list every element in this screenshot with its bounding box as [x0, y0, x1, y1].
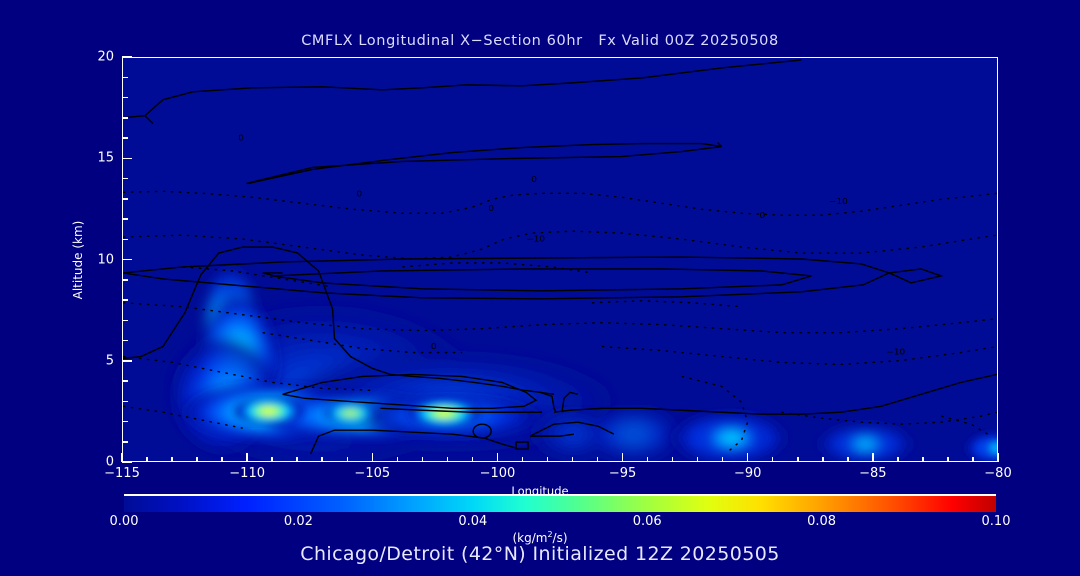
- x-tick: [672, 457, 674, 462]
- colorbar[interactable]: [124, 496, 996, 512]
- x-tick-label: −105: [354, 466, 390, 481]
- contour-label: −10: [526, 234, 545, 243]
- colorbar-tick-label: 0.06: [633, 514, 662, 529]
- x-tick: [422, 457, 424, 462]
- y-tick: [122, 239, 128, 241]
- x-tick: [947, 457, 949, 462]
- y-tick: [122, 158, 132, 160]
- y-tick: [122, 117, 128, 119]
- x-tick-label: −80: [984, 466, 1011, 481]
- y-tick-label: 20: [97, 50, 114, 65]
- y-tick: [122, 340, 128, 342]
- x-tick: [897, 457, 899, 462]
- x-tick-label: −85: [859, 466, 886, 481]
- x-tick: [397, 457, 399, 462]
- contour-label: 0: [488, 204, 494, 213]
- y-axis-title: Altitude (km): [71, 221, 85, 300]
- contour-label: −10: [886, 347, 905, 356]
- y-tick: [122, 56, 132, 58]
- colorbar-tick-label: 0.02: [284, 514, 313, 529]
- y-tick: [122, 320, 128, 322]
- colorbar-tick-label: 0.00: [110, 514, 139, 529]
- x-tick: [872, 453, 874, 462]
- x-tick: [822, 457, 824, 462]
- y-tick: [122, 421, 128, 423]
- contour-label: −10: [829, 197, 848, 206]
- x-tick: [722, 457, 724, 462]
- y-tick: [122, 218, 128, 220]
- x-tick: [146, 457, 148, 462]
- contour-label-layer: 00000−10−100−10: [123, 58, 997, 461]
- y-tick: [122, 299, 128, 301]
- x-tick: [972, 457, 974, 462]
- contour-label: 0: [531, 174, 537, 183]
- chart-title: CMFLX Longitudinal X−Section 60hr Fx Val…: [0, 33, 1080, 49]
- x-tick: [922, 457, 924, 462]
- chart-page: CMFLX Longitudinal X−Section 60hr Fx Val…: [0, 0, 1080, 576]
- x-tick: [372, 453, 374, 462]
- x-tick: [347, 457, 349, 462]
- y-tick: [122, 461, 132, 463]
- x-tick: [847, 457, 849, 462]
- x-tick: [472, 457, 474, 462]
- x-tick: [196, 457, 198, 462]
- colorbar-tick-label: 0.10: [982, 514, 1011, 529]
- x-tick: [271, 457, 273, 462]
- y-tick: [122, 279, 128, 281]
- x-tick: [296, 457, 298, 462]
- x-tick: [121, 453, 123, 462]
- x-tick: [171, 457, 173, 462]
- y-tick: [122, 401, 128, 403]
- x-tick: [221, 457, 223, 462]
- x-tick: [772, 457, 774, 462]
- colorbar-tick-label: 0.04: [458, 514, 487, 529]
- y-tick-label: 5: [106, 353, 114, 368]
- x-tick: [447, 457, 449, 462]
- x-tick: [497, 453, 499, 462]
- x-tick: [647, 457, 649, 462]
- y-tick-label: 15: [97, 151, 114, 166]
- contour-label: 0: [431, 342, 437, 351]
- y-tick: [122, 380, 128, 382]
- x-tick: [997, 453, 999, 462]
- contour-label: 0: [356, 189, 362, 198]
- y-tick: [122, 97, 128, 99]
- y-tick: [122, 360, 132, 362]
- x-tick-label: −115: [104, 466, 140, 481]
- x-tick: [597, 457, 599, 462]
- x-tick-label: −110: [229, 466, 265, 481]
- y-tick: [122, 137, 128, 139]
- x-tick-label: −95: [609, 466, 636, 481]
- x-tick-label: −90: [734, 466, 761, 481]
- x-tick: [622, 453, 624, 462]
- colorbar-gradient: [124, 496, 996, 512]
- x-tick-label: −100: [480, 466, 516, 481]
- colorbar-tick-label: 0.08: [807, 514, 836, 529]
- chart-caption: Chicago/Detroit (42°N) Initialized 12Z 2…: [0, 543, 1080, 565]
- x-tick: [321, 457, 323, 462]
- x-tick: [747, 453, 749, 462]
- x-tick: [572, 457, 574, 462]
- contour-label: 0: [759, 211, 765, 220]
- x-tick: [246, 453, 248, 462]
- y-tick: [122, 178, 128, 180]
- plot-area: 00000−10−100−10: [122, 57, 998, 462]
- y-tick: [122, 259, 132, 261]
- y-tick-label: 10: [97, 252, 114, 267]
- x-tick: [547, 457, 549, 462]
- x-tick: [522, 457, 524, 462]
- x-tick: [797, 457, 799, 462]
- y-tick: [122, 77, 128, 79]
- y-tick: [122, 441, 128, 443]
- contour-label: 0: [238, 133, 244, 142]
- x-tick: [697, 457, 699, 462]
- y-tick: [122, 198, 128, 200]
